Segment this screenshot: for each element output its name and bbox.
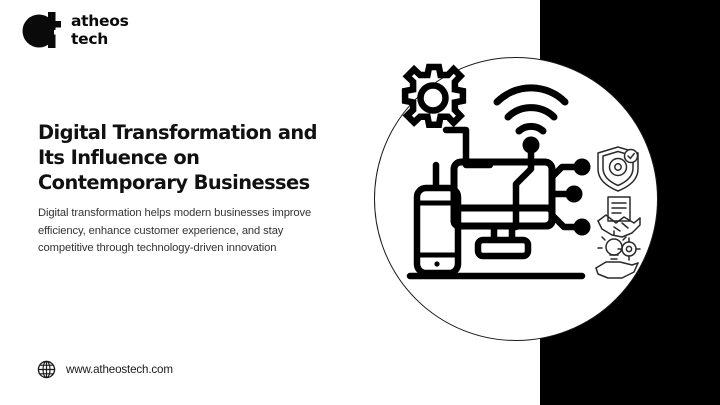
wifi-signal-icon — [497, 88, 565, 131]
digital-transformation-illustration — [374, 57, 658, 341]
shield-check-icon — [598, 147, 638, 191]
atheos-monogram-icon — [20, 9, 68, 49]
brand-logo: atheos tech — [20, 9, 200, 55]
gear-icon — [405, 67, 463, 125]
footer-website[interactable]: www.atheostech.com — [37, 360, 173, 379]
logo-wordmark: atheos tech — [71, 12, 129, 48]
page-title: Digital Transformation and Its Influence… — [38, 120, 328, 195]
logo-line-2: tech — [71, 30, 129, 48]
slide-canvas: atheos tech Digital Transformation and I… — [0, 0, 720, 405]
smartphone-icon — [417, 188, 458, 273]
globe-icon — [37, 360, 56, 379]
website-url[interactable]: www.atheostech.com — [66, 363, 173, 376]
body-paragraph: Digital transformation helps modern busi… — [38, 205, 328, 258]
desktop-monitor-icon — [454, 162, 552, 256]
hand-lightbulb-icon — [596, 231, 640, 278]
handshake-document-icon — [598, 197, 640, 237]
logo-line-1: atheos — [71, 12, 129, 30]
network-nodes-icon — [516, 145, 578, 227]
